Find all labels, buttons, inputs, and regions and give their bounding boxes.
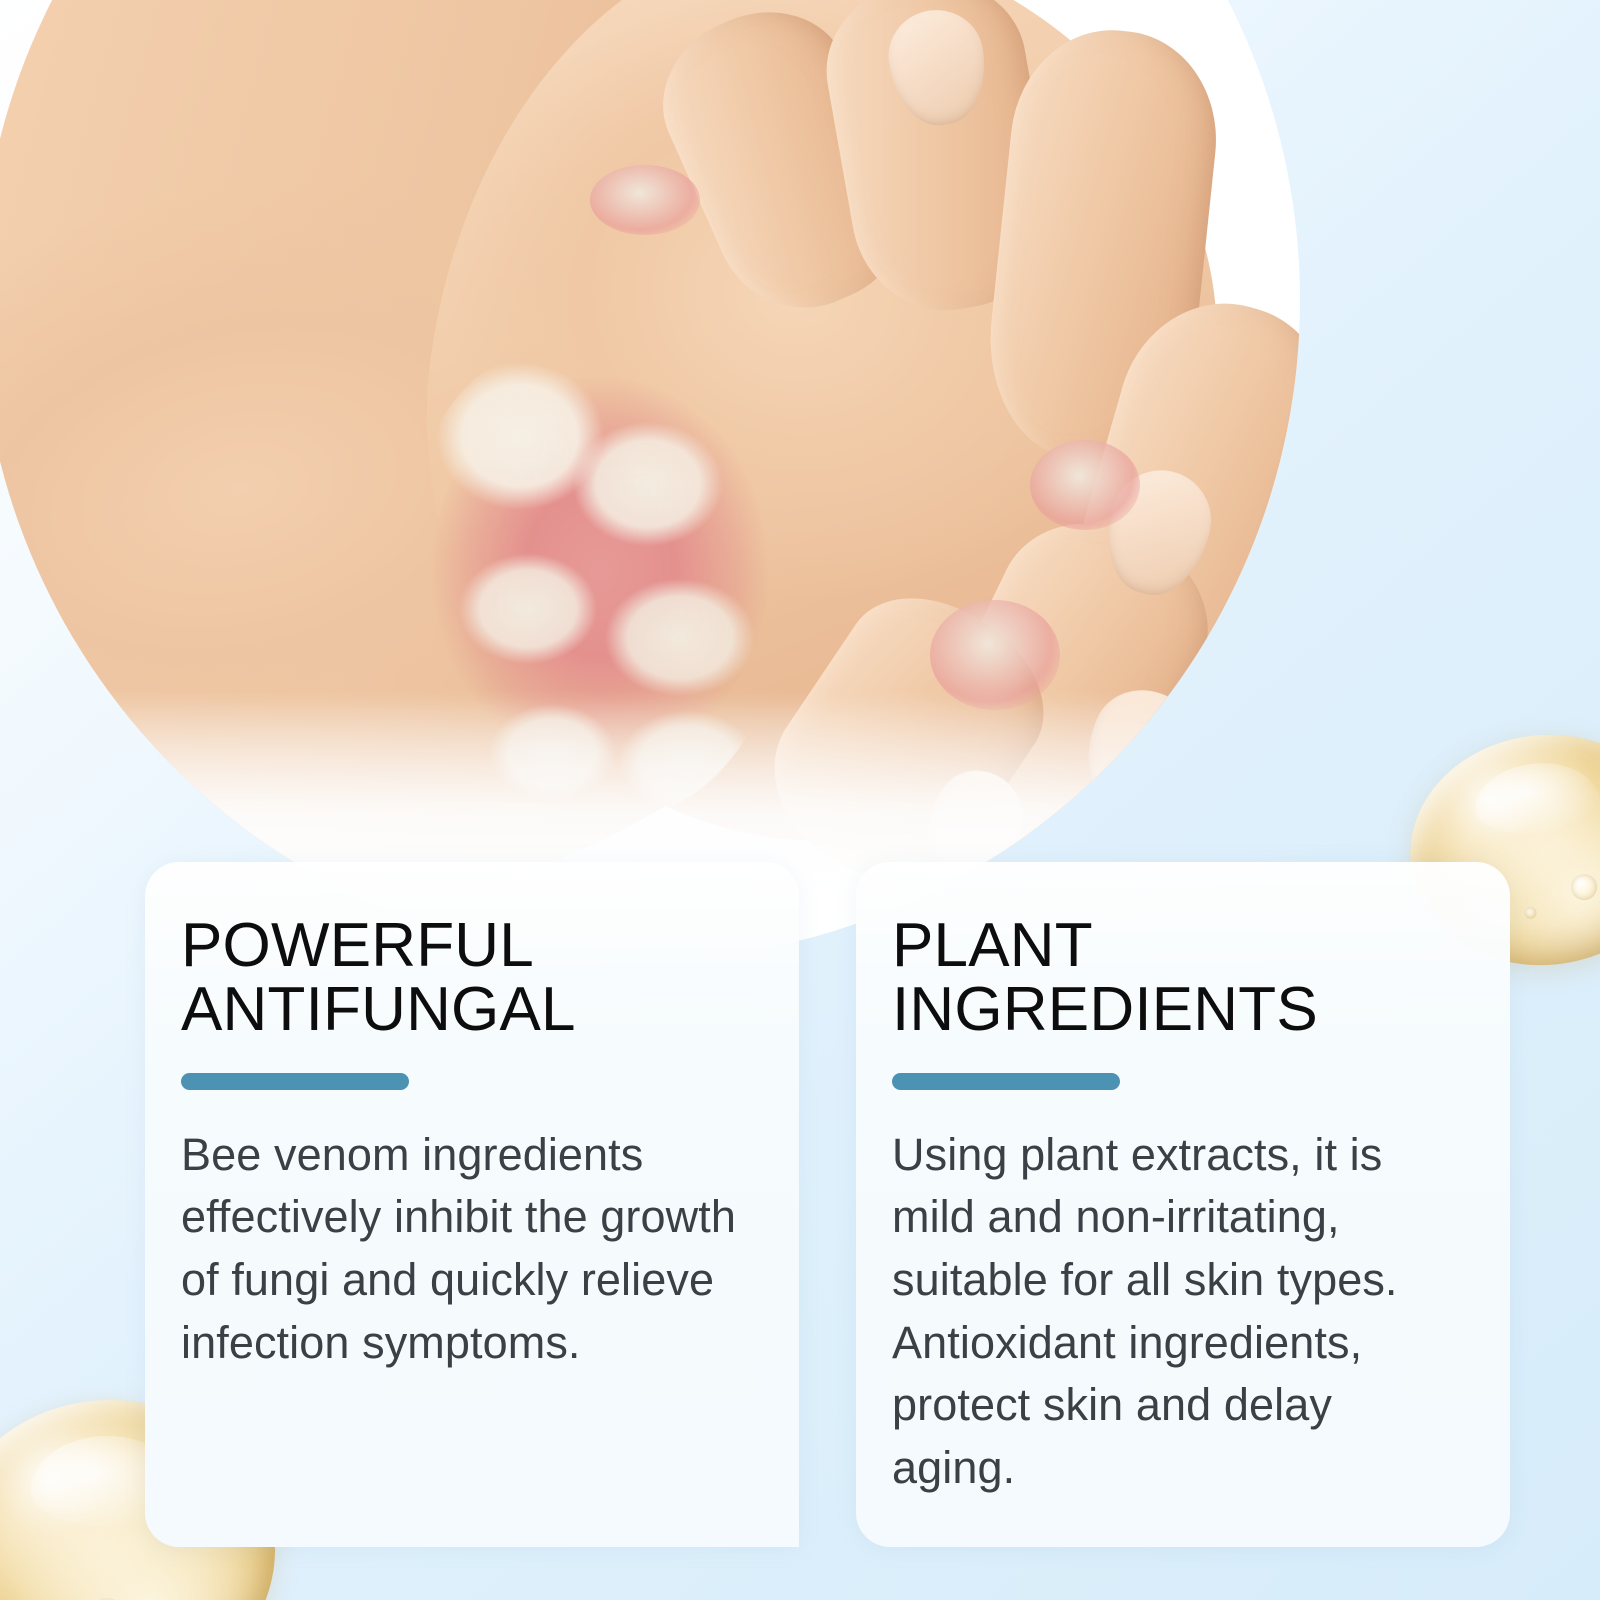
psoriasis-spot [1030, 440, 1140, 530]
card-body-text: Using plant extracts, it is mild and non… [892, 1124, 1464, 1499]
bubble [1569, 872, 1598, 901]
card-title: POWERFUL ANTIFUNGAL [181, 914, 753, 1043]
accent-bar [181, 1073, 409, 1090]
product-feature-poster: POWERFUL ANTIFUNGAL Bee venom ingredient… [0, 0, 1600, 1600]
card-title: PLANT INGREDIENTS [892, 914, 1464, 1043]
bubble [1524, 906, 1537, 919]
psoriasis-spot [590, 165, 700, 235]
accent-bar [892, 1073, 1120, 1090]
feature-card-plant-ingredients[interactable]: PLANT INGREDIENTS Using plant extracts, … [856, 862, 1510, 1547]
card-body-text: Bee venom ingredients effectively inhibi… [181, 1124, 753, 1374]
feature-card-row: POWERFUL ANTIFUNGAL Bee venom ingredient… [145, 862, 1510, 1547]
feature-card-powerful-antifungal[interactable]: POWERFUL ANTIFUNGAL Bee venom ingredient… [145, 862, 799, 1547]
